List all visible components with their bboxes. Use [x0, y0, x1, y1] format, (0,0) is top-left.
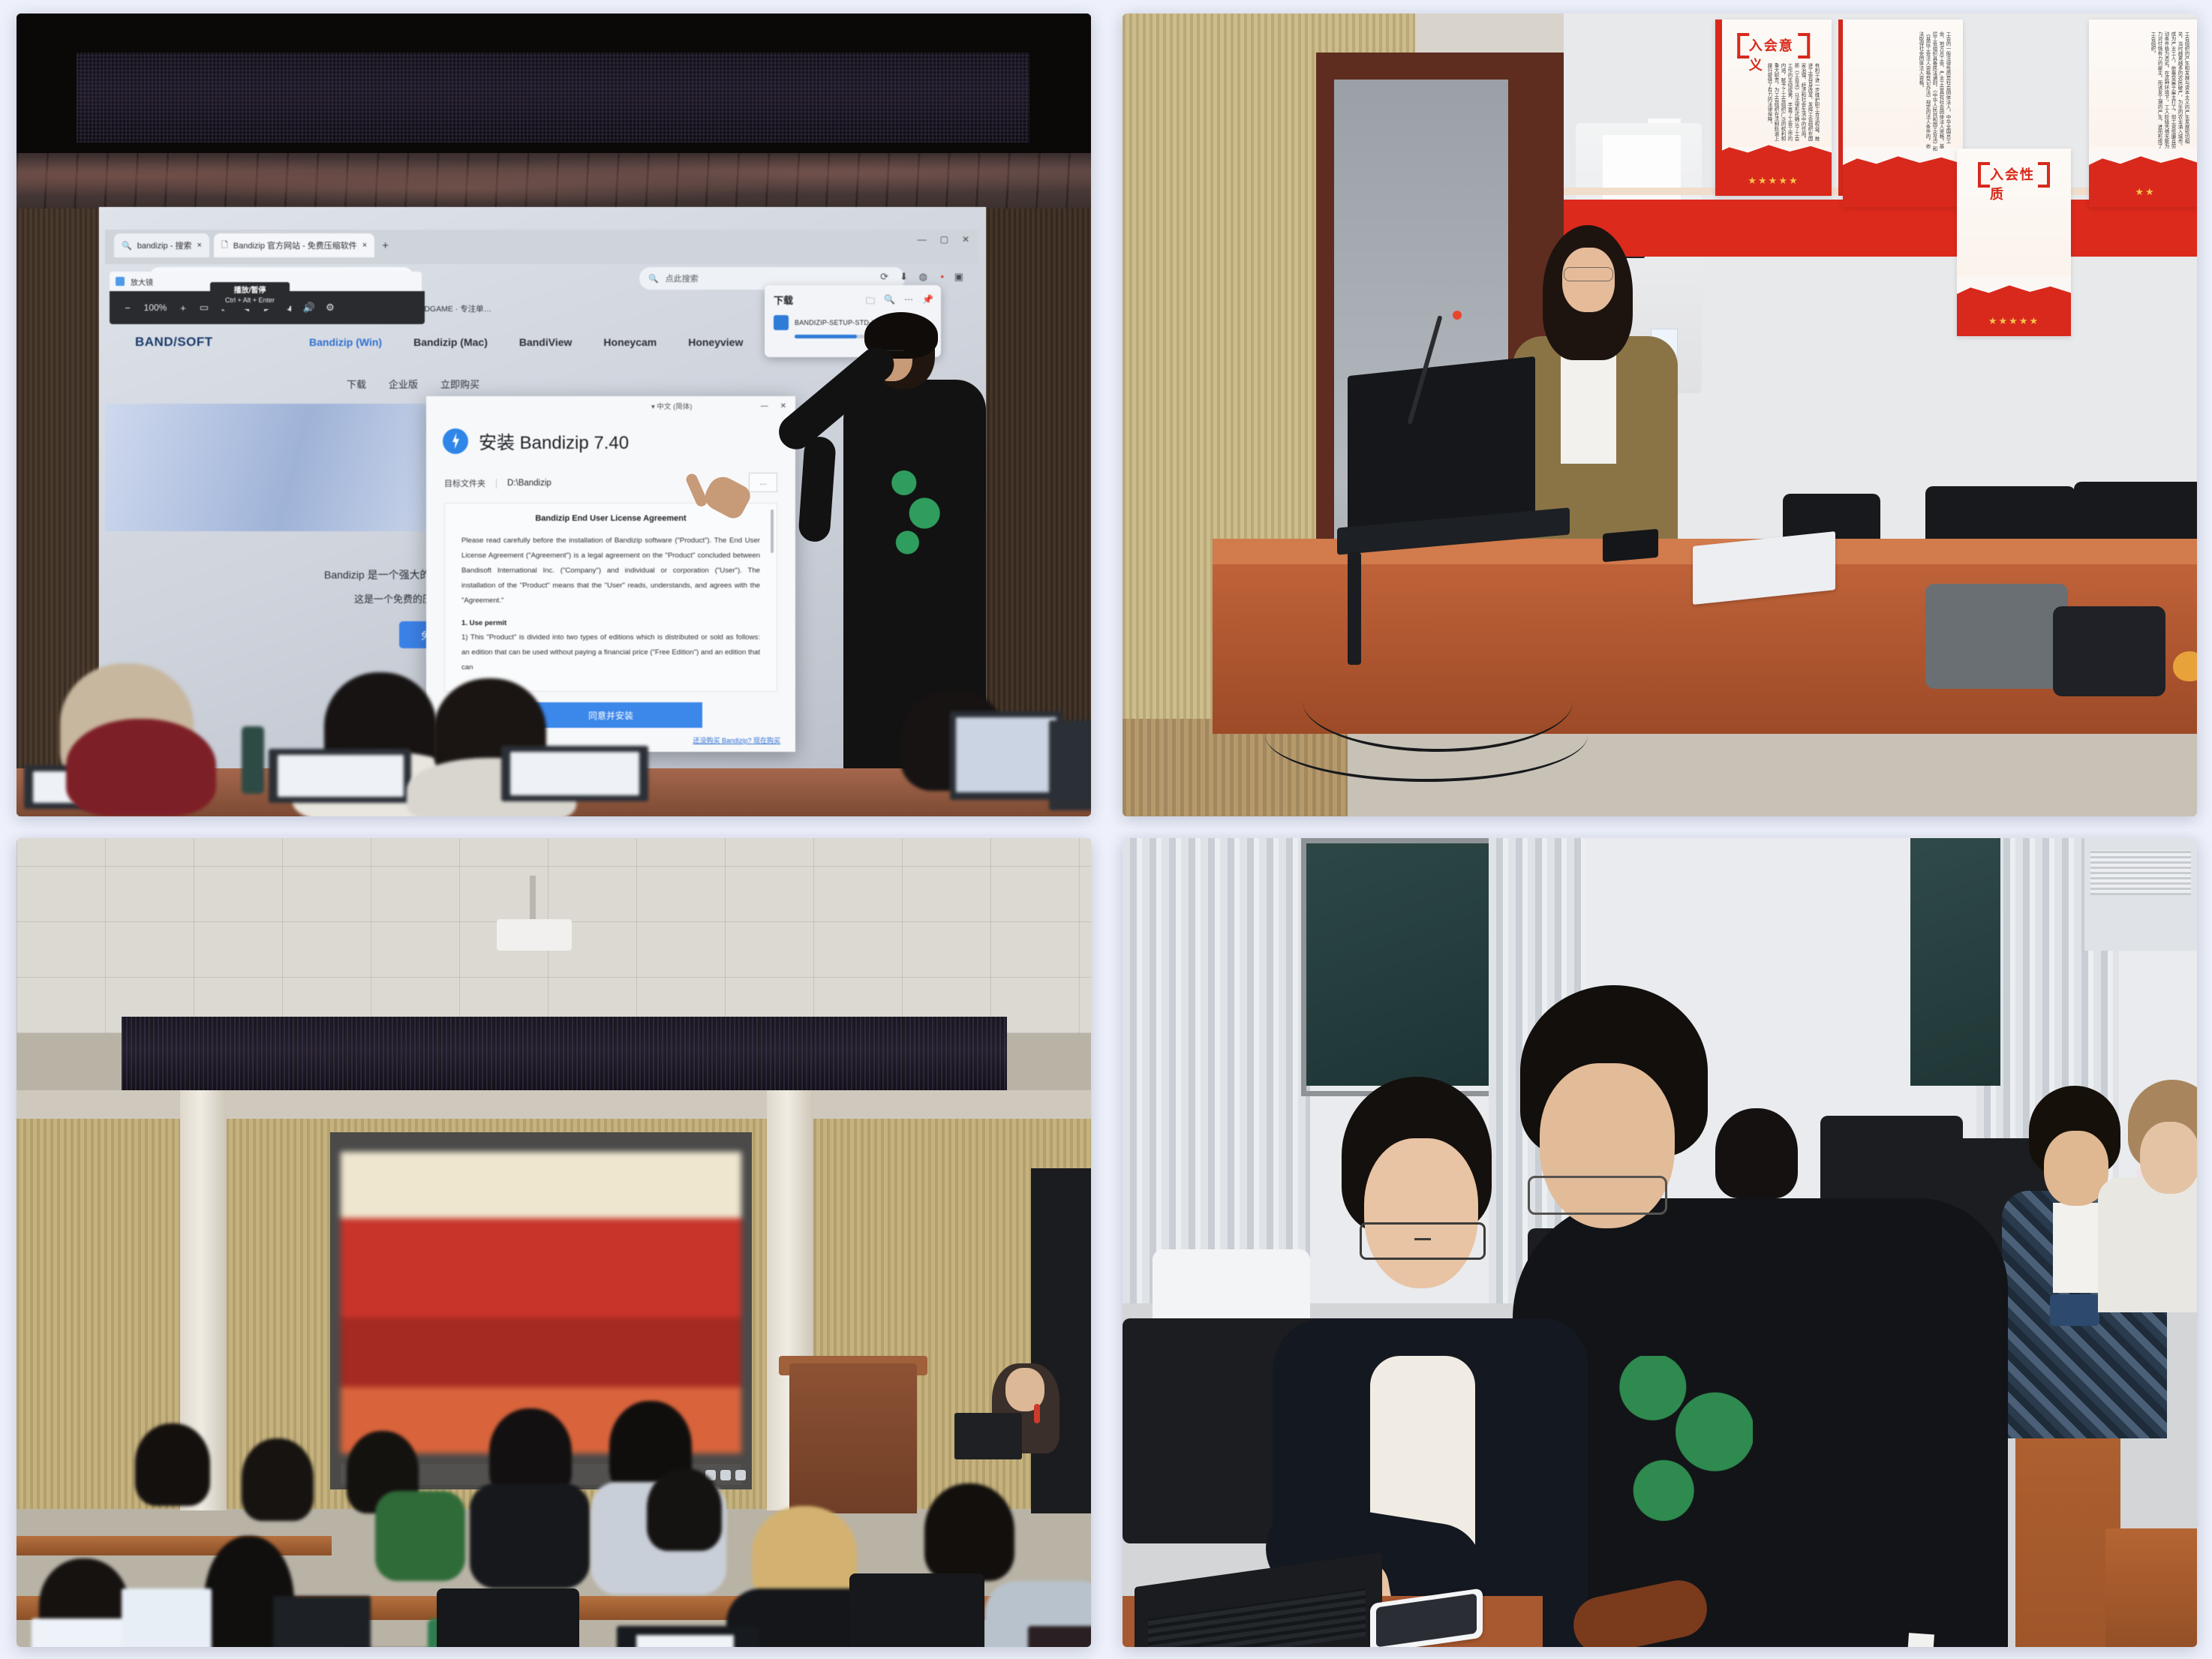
student-head: [647, 1468, 722, 1551]
poster-stars: ★★★★★: [1988, 315, 2039, 327]
union-poster-2: 工会的一般法律性质是社会团体法人。中华全国总工会、地方总工会、产业工会具有社会团…: [1843, 20, 1963, 207]
browser-tab-strip: 🔍 bandizip - 搜索 × 🗋 Bandizip 官方网站 - 免费压缩…: [114, 233, 389, 258]
student-4-torso: [2098, 1177, 2197, 1312]
magnifier-icon: [116, 277, 125, 286]
window-controls[interactable]: — ▢ ✕: [918, 234, 969, 245]
laptop-screen: [956, 717, 1056, 792]
led-banner-strip: [77, 53, 1029, 143]
search-icon: 🔍: [648, 274, 659, 284]
projector-mount-arm: [530, 876, 536, 922]
projected-slide-image: [341, 1152, 741, 1453]
site-subnav: 下载 企业版 立即购买: [347, 377, 479, 391]
marble-valance: [17, 1090, 1091, 1122]
zoom-in-button[interactable]: +: [173, 296, 194, 319]
nav-bandiview[interactable]: BandiView: [519, 336, 573, 348]
student-head: [924, 1483, 1014, 1581]
subnav-buy[interactable]: 立即购买: [440, 377, 479, 391]
scrollbar-thumb[interactable]: [771, 509, 774, 553]
tooltip-shortcut: Ctrl + Alt + Enter: [210, 296, 290, 305]
collage-cell-bottom-left: [0, 829, 1106, 1659]
audience-tablet: [1049, 720, 1091, 810]
poster-red-footer: [1843, 153, 1963, 207]
student-body: [375, 1491, 465, 1581]
zoom-level-label: 100%: [138, 302, 173, 313]
poster-red-footer: [1715, 142, 1832, 196]
student-3-phone: [2050, 1294, 2099, 1326]
close-icon[interactable]: ×: [197, 241, 201, 250]
lectern: [789, 1363, 917, 1513]
photo-instructor-at-screen: 🔍 bandizip - 搜索 × 🗋 Bandizip 官方网站 - 免费压缩…: [17, 14, 1091, 816]
glasses-icon: [1528, 1176, 1667, 1215]
student-head: [135, 1423, 210, 1506]
poster-text-columns: 有利于进一步维护职工合法权益，推进工会自身改革，发挥工会组织在国家治理、经济和社…: [1727, 63, 1820, 141]
laptop-screen: [278, 755, 404, 797]
nav-honeycam[interactable]: Honeycam: [603, 336, 657, 348]
union-poster-3: 入会性质 ★★★★★: [1957, 149, 2071, 336]
photo-collage: 🔍 bandizip - 搜索 × 🗋 Bandizip 官方网站 - 免费压缩…: [0, 0, 2212, 1659]
photo-students-at-laptop: [1123, 838, 2197, 1647]
installer-window-controls[interactable]: — ✕: [426, 396, 795, 416]
close-icon[interactable]: ✕: [962, 234, 969, 245]
search-icon: 🔍: [122, 241, 132, 251]
photo-classroom-rear-view: [17, 838, 1091, 1647]
union-poster-1: 入会意义 有利于进一步维护职工合法权益，推进工会自身改革，发挥工会组织在国家治理…: [1715, 20, 1832, 196]
student-laptop-screen: [122, 1588, 212, 1647]
close-icon[interactable]: ×: [362, 241, 367, 250]
student-laptop-screen: [636, 1635, 734, 1647]
student-laptop-screen: [273, 1596, 371, 1647]
photo-woman-at-conference-table: 入会意义 有利于进一步维护职工合法权益，推进工会自身改革，发挥工会组织在国家治理…: [1123, 14, 2197, 816]
student-4-face: [2140, 1122, 2197, 1194]
poster-text-columns: 工会组织的产生和发展与资本主义的产生发展密切相关，当时越来越多的农民破产，为生的…: [2101, 32, 2189, 152]
person-shirt: [1561, 344, 1616, 464]
toy-figure: [2173, 651, 2197, 681]
taskbar-icon: [720, 1470, 731, 1480]
nav-bandizip-mac[interactable]: Bandizip (Mac): [413, 336, 488, 348]
new-tab-button[interactable]: +: [379, 239, 389, 252]
divider: [496, 479, 497, 488]
site-nav: Bandizip (Win) Bandizip (Mac) BandiView …: [309, 336, 843, 348]
marble-valance: [17, 153, 1091, 212]
poster-stars: ★★★★★: [1748, 175, 1799, 187]
poster-title: 入会性质: [1985, 162, 2042, 206]
tooltip-title: 播放/暂停: [210, 286, 290, 296]
minimize-icon[interactable]: —: [761, 402, 768, 410]
bandisoft-logo: BAND/SOFT: [135, 335, 213, 350]
computer-desk: [2105, 1528, 2197, 1647]
nav-bandizip-win[interactable]: Bandizip (Win): [309, 336, 382, 348]
collage-cell-top-left: 🔍 bandizip - 搜索 × 🗋 Bandizip 官方网站 - 免费压缩…: [0, 0, 1106, 829]
window-pane: [1910, 838, 2000, 1086]
seated-student-face: [1364, 1138, 1478, 1288]
nav-honeyview[interactable]: Honeyview: [688, 336, 743, 348]
collage-cell-top-right: 入会意义 有利于进一步维护职工合法权益，推进工会自身改革，发挥工会组织在国家治理…: [1106, 0, 2212, 829]
taskbar-icon: [735, 1470, 746, 1480]
student-body: [470, 1483, 590, 1588]
poster-red-footer: [2089, 153, 2197, 207]
water-bottle: [242, 726, 264, 794]
ceiling-projector: [497, 919, 572, 951]
seat-back: [437, 1588, 579, 1647]
hoodie-graphic: [887, 455, 944, 567]
student-3-shirt: [2053, 1203, 2102, 1293]
subnav-enterprise[interactable]: 企业版: [389, 377, 418, 391]
minimize-icon[interactable]: —: [918, 234, 927, 245]
red-wall-band: [1564, 200, 2197, 257]
subnav-download[interactable]: 下载: [347, 377, 366, 391]
installer-header: 安装 Bandizip 7.40: [443, 428, 629, 454]
seat-back: [849, 1573, 984, 1647]
laptop-screen: [510, 752, 639, 795]
microphone-led: [1034, 1404, 1040, 1423]
glasses-icon: [1564, 267, 1613, 281]
power-adapter: [1348, 552, 1361, 665]
instructor-forearm: [798, 436, 837, 543]
student-head: [242, 1438, 314, 1521]
student-tablet: [1028, 1626, 1091, 1647]
bandizip-logo-icon: [443, 428, 468, 454]
audience-body: [66, 719, 216, 816]
page-icon: 🗋: [221, 239, 228, 253]
air-conditioner-unit: [2084, 838, 2197, 951]
window-frame: [1301, 838, 1499, 1096]
desk-row: [17, 1536, 332, 1555]
maximize-icon[interactable]: ▢: [940, 234, 948, 245]
union-poster-4: 工会组织的产生和发展与资本主义的产生发展密切相关，当时越来越多的农民破产，为生的…: [2089, 20, 2197, 207]
gear-icon[interactable]: ⚙: [320, 296, 341, 319]
poster-stars: ★★: [2135, 186, 2155, 198]
poster-text-columns: 工会的一般法律性质是社会团体法人。中华全国总工会、地方总工会、产业工会具有社会团…: [1855, 32, 1951, 152]
magnifier-tooltip: 播放/暂停 Ctrl + Alt + Enter: [210, 282, 290, 309]
speaker-icon[interactable]: 🔊: [299, 296, 320, 319]
glasses-icon: [1360, 1222, 1486, 1260]
collage-cell-bottom-right: [1106, 829, 2212, 1659]
installer-title: 安装 Bandizip 7.40: [479, 428, 629, 454]
side-door: [1031, 1168, 1091, 1513]
browser-tab-2[interactable]: 🗋 Bandizip 官方网站 - 免费压缩软件 ×: [214, 233, 374, 257]
backpack-black: [2053, 606, 2165, 696]
led-banner-strip: [122, 1017, 1007, 1092]
hoodie-graphic: [1618, 1356, 1753, 1528]
floor-cable: [1303, 651, 1573, 752]
lectern-laptop: [954, 1413, 1022, 1459]
audience-foreground: [17, 591, 1091, 816]
zoom-out-button[interactable]: −: [117, 296, 138, 319]
poster-red-footer: [1957, 282, 2071, 336]
smartphone: [1603, 529, 1658, 562]
browse-button[interactable]: …: [749, 473, 777, 492]
destination-label: 目标文件夹: [444, 477, 485, 489]
browser-tab-1[interactable]: 🔍 bandizip - 搜索 ×: [114, 233, 209, 257]
backpack-gray: [1925, 584, 2068, 689]
microphone-led: [1453, 311, 1462, 320]
destination-path-value: D:\Bandizip: [507, 479, 551, 488]
student-head-background: [1715, 1108, 1798, 1198]
